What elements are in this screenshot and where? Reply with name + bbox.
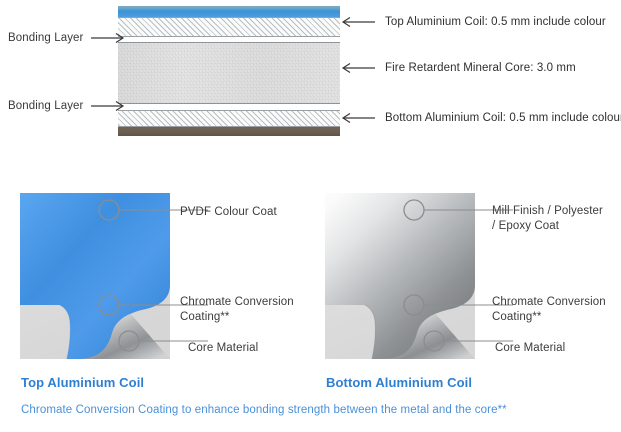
- top-coil-label: Top Aluminium Coil: 0.5 mm include colou…: [385, 16, 606, 28]
- bonding-layer-callout-bottom: Bonding Layer: [8, 100, 125, 112]
- arrow-right-icon: [91, 100, 125, 112]
- bottom-aluminium-coil-panel: [325, 193, 475, 359]
- bottom-coil-label: Bottom Aluminium Coil: 0.5 mm include co…: [385, 112, 621, 124]
- chromate-coating-label-right: Chromate Conversion Coating**: [492, 295, 606, 324]
- arrow-left-icon: [341, 62, 375, 74]
- core-callout: Fire Retardent Mineral Core: 3.0 mm: [341, 62, 576, 74]
- arrow-left-icon: [341, 112, 375, 124]
- chromate-coating-label-left: Chromate Conversion Coating**: [180, 295, 294, 324]
- bonding-layer-label-top: Bonding Layer: [8, 32, 83, 44]
- bottom-coil-callout: Bottom Aluminium Coil: 0.5 mm include co…: [341, 112, 621, 124]
- arrow-right-icon: [91, 32, 125, 44]
- core-material-label-left: Core Material: [188, 341, 258, 356]
- top-aluminium-coil-panel: [20, 193, 170, 359]
- layer-top-colour-coat: [118, 6, 340, 17]
- bottom-aluminium-coil-caption: Bottom Aluminium Coil: [326, 375, 472, 390]
- layer-bottom-bonding: [118, 103, 340, 110]
- layer-bottom-aluminium-coil: [118, 110, 340, 127]
- layer-bottom-coat: [118, 127, 340, 136]
- bonding-layer-label-bottom: Bonding Layer: [8, 100, 83, 112]
- top-coil-callout: Top Aluminium Coil: 0.5 mm include colou…: [341, 16, 606, 28]
- layer-fire-retardent-mineral-core: [118, 43, 340, 103]
- arrow-left-icon: [341, 16, 375, 28]
- core-label: Fire Retardent Mineral Core: 3.0 mm: [385, 62, 576, 74]
- layer-top-aluminium-coil: [118, 17, 340, 37]
- chromate-footnote: Chromate Conversion Coating to enhance b…: [21, 404, 507, 416]
- pvdf-colour-coat-label: PVDF Colour Coat: [180, 205, 277, 220]
- top-aluminium-coil-caption: Top Aluminium Coil: [21, 375, 144, 390]
- cross-section-diagram: [118, 6, 340, 133]
- bonding-layer-callout-top: Bonding Layer: [8, 32, 125, 44]
- core-material-label-right: Core Material: [495, 341, 565, 356]
- mill-finish-label: Mill Finish / Polyester / Epoxy Coat: [492, 204, 603, 233]
